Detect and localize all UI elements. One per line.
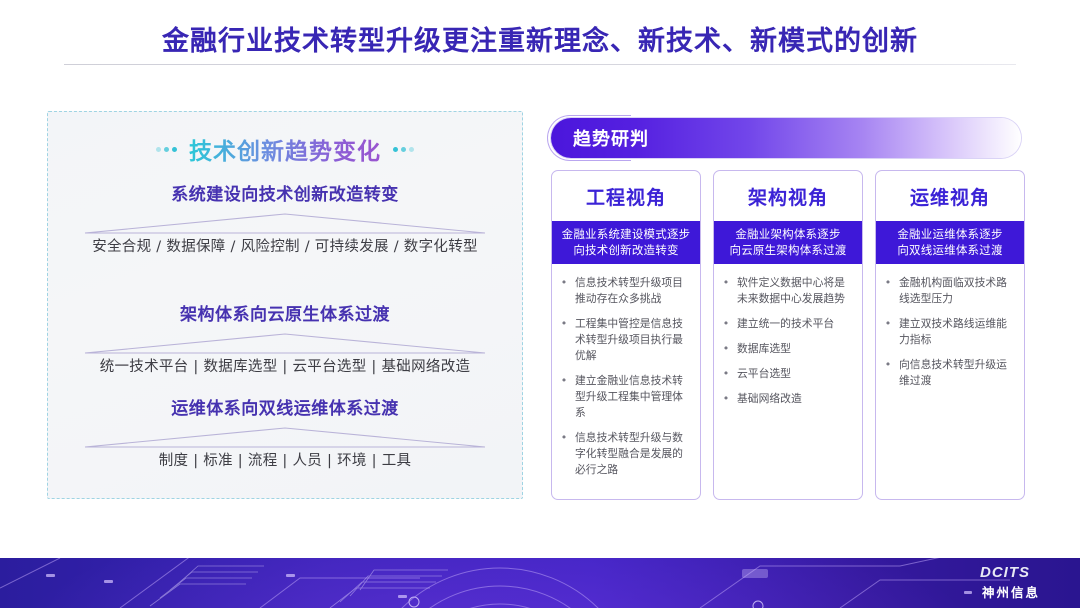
list-item-label: 云平台选型 [737,366,853,382]
circuit-pattern-icon [0,558,1080,608]
trend-judgement-banner: 趋势研判 [551,118,1021,158]
card-band-line: 向技术创新改造转变 [556,242,696,258]
bullet-dot-icon: • [883,316,893,348]
bullet-dot-icon: • [721,341,731,357]
card-band-line: 向云原生架构体系过渡 [718,242,858,258]
bullet-dot-icon: • [559,275,569,307]
decorative-dots-right-icon [393,147,414,152]
bullet-dot-icon: • [559,316,569,364]
card-band: 金融业架构体系逐步 向云原生架构体系过渡 [714,221,862,264]
logo-en-text: DCITS [980,564,1030,581]
card-band-line: 向双线运维体系过渡 [880,242,1020,258]
list-item: •基础网络改造 [721,391,853,407]
trend-items: 统一技术平台 | 数据库选型 | 云平台选型 | 基础网络改造 [48,355,522,376]
list-item-label: 基础网络改造 [737,391,853,407]
card-band-line: 金融业运维体系逐步 [880,226,1020,242]
card-band-line: 金融业系统建设模式逐步 [556,226,696,242]
company-logo: DCITS 神州信息 [952,562,1070,604]
bullet-dot-icon: • [559,430,569,478]
list-item-label: 信息技术转型升级与数字化转型融合是发展的必行之路 [575,430,691,478]
trend-block-1: 系统建设向技术创新改造转变 安全合规 / 数据保障 / 风险控制 / 可持续发展… [48,180,522,256]
list-item-label: 建立金融业信息技术转型升级工程集中管理体系 [575,373,691,421]
list-item-label: 软件定义数据中心将是未来数据中心发展趋势 [737,275,853,307]
list-item: •软件定义数据中心将是未来数据中心发展趋势 [721,275,853,307]
list-item: •建立统一的技术平台 [721,316,853,332]
trend-change-panel: 技术创新趋势变化 系统建设向技术创新改造转变 安全合规 / 数据保障 / 风险控… [47,111,523,499]
list-item-label: 数据库选型 [737,341,853,357]
logo-cn-text: 神州信息 [982,582,1040,601]
card-body: •信息技术转型升级项目推动存在众多挑战 •工程集中管控是信息技术转型升级项目执行… [552,264,700,499]
card-body: •金融机构面临双技术路线选型压力 •建立双技术路线运维能力指标 •向信息技术转型… [876,264,1024,499]
bullet-dot-icon: • [883,275,893,307]
card-title: 架构视角 [714,171,862,221]
card-band-line: 金融业架构体系逐步 [718,226,858,242]
slide-root: 金融行业技术转型升级更注重新理念、新技术、新模式的创新 技术创新趋势变化 系统建… [0,0,1080,608]
card-title: 工程视角 [552,171,700,221]
list-item: •数据库选型 [721,341,853,357]
card-band: 金融业系统建设模式逐步 向技术创新改造转变 [552,221,700,264]
bullet-dot-icon: • [721,391,731,407]
page-title-container: 金融行业技术转型升级更注重新理念、新技术、新模式的创新 [0,12,1080,64]
list-item: •建立双技术路线运维能力指标 [883,316,1015,348]
trend-change-heading-row: 技术创新趋势变化 [48,132,522,166]
trend-judgement-label: 趋势研判 [573,125,649,151]
bullet-dot-icon: • [883,357,893,389]
decorative-dots-left-icon [156,147,177,152]
bullet-dot-icon: • [721,275,731,307]
page-title: 金融行业技术转型升级更注重新理念、新技术、新模式的创新 [162,19,918,58]
list-item-label: 金融机构面临双技术路线选型压力 [899,275,1015,307]
list-item: •信息技术转型升级项目推动存在众多挑战 [559,275,691,307]
trend-title: 系统建设向技术创新改造转变 [48,180,522,205]
footer-band: DCITS 神州信息 [0,558,1080,608]
bullet-dot-icon: • [559,373,569,421]
card-engineering-perspective[interactable]: 工程视角 金融业系统建设模式逐步 向技术创新改造转变 •信息技术转型升级项目推动… [551,170,701,500]
list-item: •向信息技术转型升级运维过渡 [883,357,1015,389]
card-architecture-perspective[interactable]: 架构视角 金融业架构体系逐步 向云原生架构体系过渡 •软件定义数据中心将是未来数… [713,170,863,500]
list-item-label: 工程集中管控是信息技术转型升级项目执行最优解 [575,316,691,364]
trend-items: 制度 | 标准 | 流程 | 人员 | 环境 | 工具 [48,449,522,470]
trend-block-2: 架构体系向云原生体系过渡 统一技术平台 | 数据库选型 | 云平台选型 | 基础… [48,300,522,376]
roof-chevron-icon [83,332,487,354]
perspective-cards: 工程视角 金融业系统建设模式逐步 向技术创新改造转变 •信息技术转型升级项目推动… [551,170,1025,500]
roof-chevron-icon [83,212,487,234]
list-item: •云平台选型 [721,366,853,382]
title-divider [64,64,1016,65]
roof-chevron-icon [83,426,487,448]
card-body: •软件定义数据中心将是未来数据中心发展趋势 •建立统一的技术平台 •数据库选型 … [714,264,862,499]
card-band: 金融业运维体系逐步 向双线运维体系过渡 [876,221,1024,264]
list-item-label: 向信息技术转型升级运维过渡 [899,357,1015,389]
bullet-dot-icon: • [721,316,731,332]
trend-change-heading: 技术创新趋势变化 [189,132,381,166]
list-item: •金融机构面临双技术路线选型压力 [883,275,1015,307]
list-item: •建立金融业信息技术转型升级工程集中管理体系 [559,373,691,421]
card-title: 运维视角 [876,171,1024,221]
trend-title: 架构体系向云原生体系过渡 [48,300,522,325]
list-item-label: 建立统一的技术平台 [737,316,853,332]
trend-items: 安全合规 / 数据保障 / 风险控制 / 可持续发展 / 数字化转型 [48,235,522,256]
list-item-label: 信息技术转型升级项目推动存在众多挑战 [575,275,691,307]
list-item: •工程集中管控是信息技术转型升级项目执行最优解 [559,316,691,364]
card-operations-perspective[interactable]: 运维视角 金融业运维体系逐步 向双线运维体系过渡 •金融机构面临双技术路线选型压… [875,170,1025,500]
list-item-label: 建立双技术路线运维能力指标 [899,316,1015,348]
trend-title: 运维体系向双线运维体系过渡 [48,394,522,419]
trend-block-3: 运维体系向双线运维体系过渡 制度 | 标准 | 流程 | 人员 | 环境 | 工… [48,394,522,470]
bullet-dot-icon: • [721,366,731,382]
list-item: •信息技术转型升级与数字化转型融合是发展的必行之路 [559,430,691,478]
